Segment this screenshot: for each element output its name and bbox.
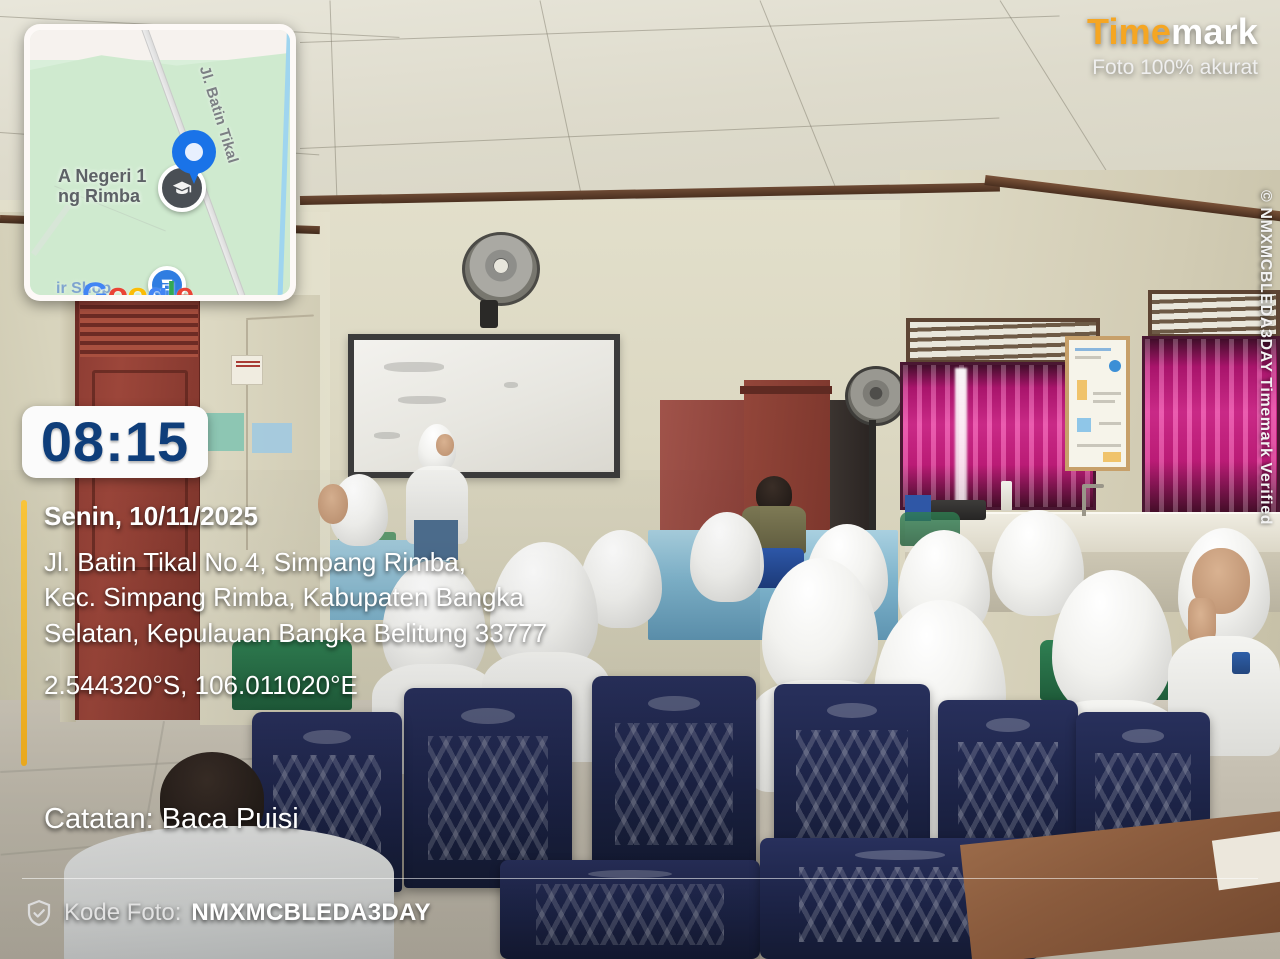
- location-map-card[interactable]: Jl. Batin Tikal A Negeri 1 ng Rimba ir S…: [24, 24, 296, 301]
- verified-watermark-text: © NMXMCBLEDA3DAY Timemark Verified: [1256, 190, 1274, 525]
- photo-code-value: NMXMCBLEDA3DAY: [191, 899, 430, 927]
- date-text: Senin, 10/11/2025: [44, 500, 744, 533]
- brand-tagline: Foto 100% akurat: [1087, 56, 1258, 80]
- verified-watermark-strip: © NMXMCBLEDA3DAY Timemark Verified: [1252, 0, 1280, 640]
- time-value: 08:15: [41, 414, 189, 470]
- brand-logo-time: Time: [1087, 11, 1171, 52]
- photo-code-label: Kode Foto:: [64, 899, 181, 927]
- address-text: Jl. Batin Tikal No.4, Simpang Rimba, Kec…: [44, 545, 744, 653]
- brand-logo-mark: mark: [1171, 11, 1258, 52]
- shield-check-icon: [24, 897, 54, 929]
- timemark-photo-screen: Jl. Batin Tikal A Negeri 1 ng Rimba ir S…: [0, 0, 1280, 959]
- timemark-overlay: Jl. Batin Tikal A Negeri 1 ng Rimba ir S…: [0, 0, 1280, 959]
- map-canvas[interactable]: Jl. Batin Tikal A Negeri 1 ng Rimba ir S…: [30, 30, 290, 295]
- accent-bar: [21, 500, 27, 766]
- coordinates-text: 2.544320°S, 106.011020°E: [44, 670, 744, 701]
- google-attribution: Google: [82, 276, 193, 295]
- stamp-info-block: Senin, 10/11/2025 Jl. Batin Tikal No.4, …: [44, 500, 744, 701]
- location-pin-icon: [172, 130, 216, 186]
- timemark-brand: Timemark Foto 100% akurat: [1087, 14, 1258, 80]
- footer-divider: [22, 878, 1258, 879]
- map-place-label: A Negeri 1 ng Rimba: [58, 166, 146, 206]
- map-background-area: [30, 30, 290, 60]
- brand-logo: Timemark: [1087, 14, 1258, 50]
- photo-code-row: Kode Foto: NMXMCBLEDA3DAY: [24, 897, 431, 929]
- time-chip: 08:15: [22, 406, 208, 478]
- note-text: Catatan: Baca Puisi: [44, 803, 299, 836]
